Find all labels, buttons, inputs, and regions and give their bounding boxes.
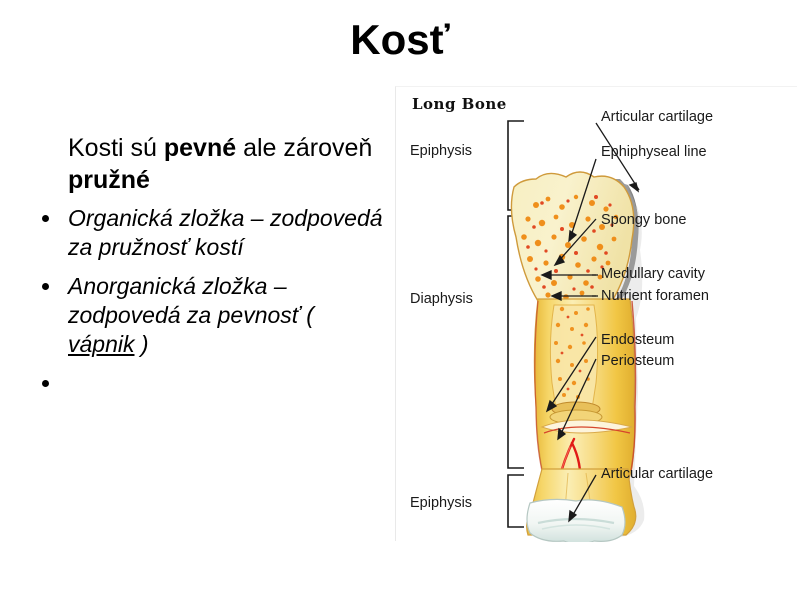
figure-label-medullary-cavity: Medullary cavity (601, 266, 705, 283)
figure-label-articular-cartilage-bottom: Articular cartilage (601, 466, 713, 483)
long-bone-figure: Long Bone (395, 86, 797, 541)
figure-label-articular-cartilage-top: Articular cartilage (601, 109, 713, 126)
bullet-list: Organická zložka – zodpovedá za pružnosť… (32, 204, 384, 398)
list-item-inorganic: Anorganická zložka – zodpovedá za pevnos… (32, 272, 384, 359)
lead-part-1: Kosti sú (68, 134, 164, 162)
bullet-dot-icon (42, 380, 49, 387)
articular-cartilage-cap-bottom (527, 499, 625, 542)
lead-part-4-bold: pružné (68, 166, 150, 194)
slide-canvas: Kosť Kosti sú pevné ale zároveň pružné O… (0, 0, 800, 600)
content-text-column: Kosti sú pevné ale zároveň pružné Organi… (32, 132, 384, 408)
bracket-epiphysis-bottom (508, 475, 524, 527)
figure-label-epiphysis-bottom: Epiphysis (410, 495, 472, 512)
list-item-inorganic-underlined: vápnik (68, 331, 134, 357)
lead-part-2-bold: pevné (164, 134, 236, 162)
lead-paragraph: Kosti sú pevné ale zároveň pružné (32, 132, 384, 196)
bullet-dot-icon (42, 283, 49, 290)
page-title: Kosť (0, 14, 800, 66)
figure-label-endosteum: Endosteum (601, 332, 674, 349)
lead-part-3: ale zároveň (236, 134, 372, 162)
figure-label-diaphysis: Diaphysis (410, 291, 473, 308)
medullary-cavity (550, 305, 597, 409)
list-item-inorganic-suffix: ) (134, 331, 148, 357)
list-item-organic: Organická zložka – zodpovedá za pružnosť… (32, 204, 384, 262)
list-item-inorganic-prefix: Anorganická zložka – zodpovedá za pevnos… (68, 273, 314, 328)
figure-label-ephiphyseal-line: Ephiphyseal line (601, 144, 707, 161)
list-item-empty (32, 369, 384, 398)
list-item-organic-label: Organická zložka – zodpovedá za pružnosť… (68, 205, 383, 260)
figure-label-nutrient-foramen: Nutrient foramen (601, 288, 709, 305)
figure-label-periosteum: Periosteum (601, 353, 674, 370)
bullet-dot-icon (42, 215, 49, 222)
figure-label-spongy-bone: Spongy bone (601, 212, 686, 229)
figure-label-epiphysis-top: Epiphysis (410, 143, 472, 160)
